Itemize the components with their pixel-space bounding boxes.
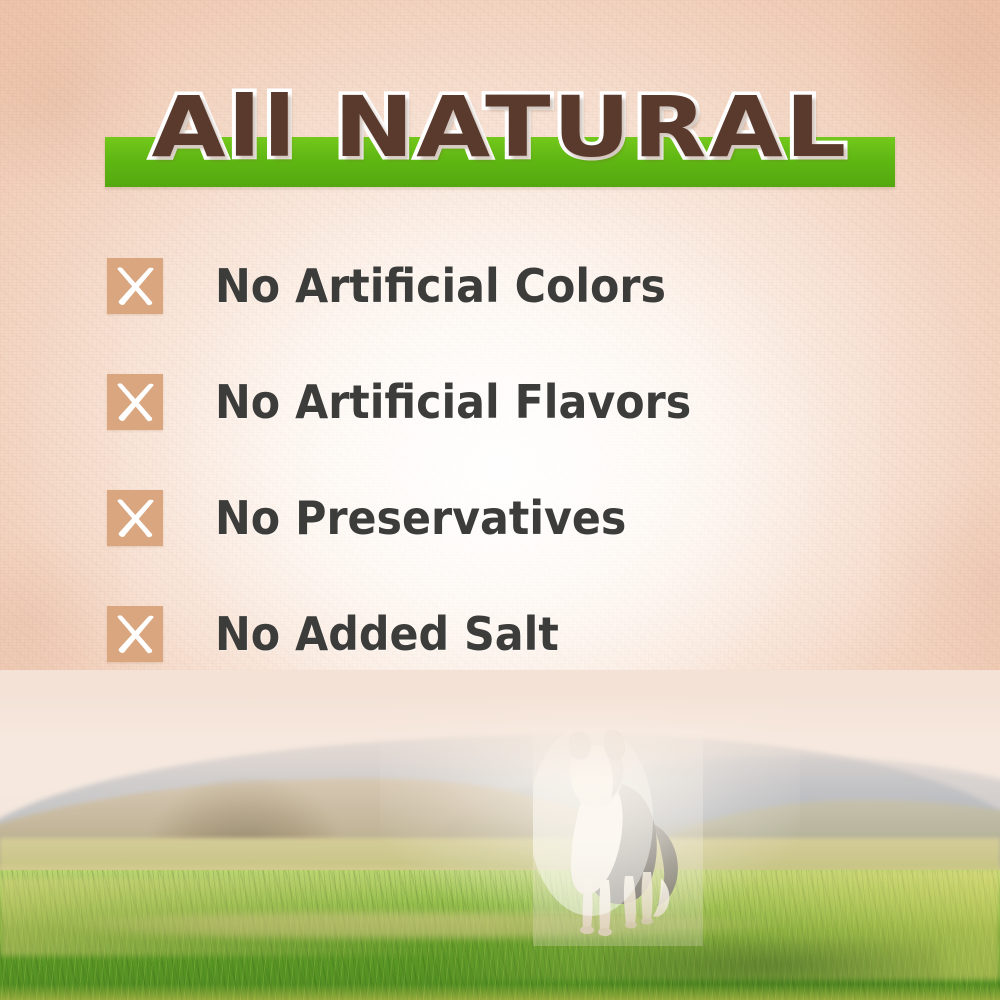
page-title: All NATURAL (0, 80, 1000, 174)
x-mark-icon (107, 258, 163, 314)
x-mark-icon (107, 606, 163, 662)
border-collie-dog (533, 728, 703, 946)
list-item-label: No Artificial Flavors (215, 374, 691, 430)
list-item-label: No Added Salt (215, 606, 559, 662)
dog-in-meadow-photo (0, 670, 1000, 1000)
headline-banner: All NATURAL (0, 80, 1000, 190)
list-item: No Artificial Colors (107, 258, 927, 314)
x-mark-icon (107, 374, 163, 430)
list-item-label: No Artificial Colors (215, 258, 666, 314)
all-natural-poster: All NATURAL No Artificial Colors No Arti… (0, 0, 1000, 1000)
list-item: No Added Salt (107, 606, 927, 662)
x-mark-icon (107, 490, 163, 546)
benefits-list: No Artificial Colors No Artificial Flavo… (107, 258, 927, 662)
list-item: No Preservatives (107, 490, 927, 546)
list-item: No Artificial Flavors (107, 374, 927, 430)
list-item-label: No Preservatives (215, 490, 626, 546)
grass-shadow (600, 938, 940, 992)
